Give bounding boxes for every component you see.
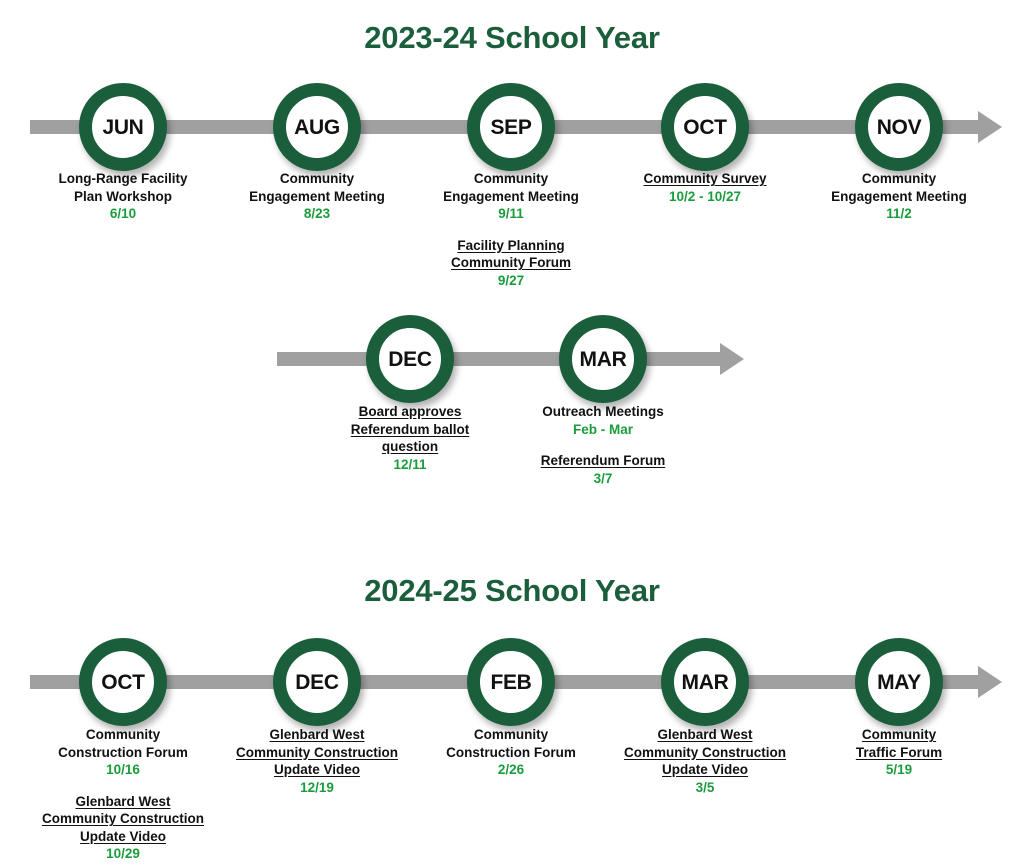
timeline-node-sep[interactable]: SEP [467, 83, 555, 171]
event-link-line[interactable]: Facility Planning [411, 237, 611, 255]
event-link-line[interactable]: Update Video [13, 828, 233, 846]
node-month-label: MAR [580, 349, 627, 370]
event-column-oct-2024: Community Construction Forum 10/16 Glenb… [13, 726, 233, 863]
event-group: Community Construction Forum 10/16 [13, 726, 233, 779]
event-link-line[interactable]: Referendum Forum [503, 452, 703, 470]
node-month-label: AUG [294, 117, 340, 138]
event-link-line[interactable]: Glenbard West [13, 793, 233, 811]
timeline-node-oct[interactable]: OCT [661, 83, 749, 171]
event-group-link[interactable]: Glenbard West Community Construction Upd… [207, 726, 427, 796]
event-date: 3/7 [503, 470, 703, 488]
event-date: 2/26 [401, 761, 621, 779]
event-date: 8/23 [217, 205, 417, 223]
event-link-line[interactable]: Update Video [595, 761, 815, 779]
timeline-arrow-icon [978, 111, 1002, 143]
event-column-mar-2025: Glenbard West Community Construction Upd… [595, 726, 815, 796]
event-date: 12/19 [207, 779, 427, 797]
timeline-node-aug[interactable]: AUG [273, 83, 361, 171]
timeline-node-dec-2024[interactable]: DEC [273, 638, 361, 726]
event-link-line[interactable]: Community Construction [13, 810, 233, 828]
timeline-arrow-icon [978, 666, 1002, 698]
event-column-feb-2025: Community Construction Forum 2/26 [401, 726, 621, 779]
event-date: 12/11 [310, 456, 510, 474]
node-month-label: FEB [490, 672, 531, 693]
event-name-line: Engagement Meeting [217, 188, 417, 206]
event-column-nov: Community Engagement Meeting 11/2 [799, 170, 999, 223]
event-date: 10/29 [13, 845, 233, 863]
section-title-2024-25: 2024-25 School Year [0, 575, 1024, 606]
event-link-line[interactable]: Glenbard West [595, 726, 815, 744]
event-name-line: Engagement Meeting [799, 188, 999, 206]
event-column-aug: Community Engagement Meeting 8/23 [217, 170, 417, 223]
node-month-label: MAR [682, 672, 729, 693]
timeline-node-dec[interactable]: DEC [366, 315, 454, 403]
event-date: Feb - Mar [503, 421, 703, 439]
node-month-label: MAY [877, 672, 921, 693]
event-date: 3/5 [595, 779, 815, 797]
node-month-label: DEC [388, 349, 431, 370]
event-link-line[interactable]: Glenbard West [207, 726, 427, 744]
event-name-line: Construction Forum [401, 744, 621, 762]
event-name-line: Long-Range Facility [23, 170, 223, 188]
event-name-line: Community [411, 170, 611, 188]
event-name-line: Community [401, 726, 621, 744]
event-column-oct: Community Survey 10/2 - 10/27 [605, 170, 805, 205]
event-column-sep: Community Engagement Meeting 9/11 Facili… [411, 170, 611, 289]
event-link-line[interactable]: Board approves [310, 403, 510, 421]
event-column-jun: Long-Range Facility Plan Workshop 6/10 [23, 170, 223, 223]
event-date: 10/16 [13, 761, 233, 779]
timeline-node-may-2025[interactable]: MAY [855, 638, 943, 726]
event-group: Outreach Meetings Feb - Mar [503, 403, 703, 438]
event-link-line[interactable]: Referendum ballot [310, 421, 510, 439]
event-name-line: Plan Workshop [23, 188, 223, 206]
timeline-node-jun[interactable]: JUN [79, 83, 167, 171]
event-link-line[interactable]: Community [789, 726, 1009, 744]
event-date: 10/2 - 10/27 [605, 188, 805, 206]
event-group-link[interactable]: Facility Planning Community Forum 9/27 [411, 237, 611, 290]
event-date: 9/27 [411, 272, 611, 290]
event-link-line[interactable]: Community Construction [207, 744, 427, 762]
event-name-line: Construction Forum [13, 744, 233, 762]
event-link-line[interactable]: question [310, 438, 510, 456]
event-group-link[interactable]: Glenbard West Community Construction Upd… [13, 793, 233, 863]
event-link-line[interactable]: Community Forum [411, 254, 611, 272]
event-group-link[interactable]: Community Survey 10/2 - 10/27 [605, 170, 805, 205]
event-group-link[interactable]: Glenbard West Community Construction Upd… [595, 726, 815, 796]
event-group: Community Engagement Meeting 11/2 [799, 170, 999, 223]
event-group: Long-Range Facility Plan Workshop 6/10 [23, 170, 223, 223]
event-group-link[interactable]: Community Traffic Forum 5/19 [789, 726, 1009, 779]
event-date: 6/10 [23, 205, 223, 223]
event-link-line[interactable]: Community Construction [595, 744, 815, 762]
event-date: 9/11 [411, 205, 611, 223]
node-month-label: JUN [102, 117, 143, 138]
timeline-node-mar[interactable]: MAR [559, 315, 647, 403]
event-link-line[interactable]: Traffic Forum [789, 744, 1009, 762]
event-group-link[interactable]: Board approves Referendum ballot questio… [310, 403, 510, 473]
section-title-2023-24: 2023-24 School Year [0, 22, 1024, 53]
event-name-line: Engagement Meeting [411, 188, 611, 206]
event-column-dec-2023: Board approves Referendum ballot questio… [310, 403, 510, 473]
node-month-label: OCT [101, 672, 144, 693]
event-date: 5/19 [789, 761, 1009, 779]
timeline-row-2023-second: DEC MAR [0, 300, 1024, 420]
event-group: Community Construction Forum 2/26 [401, 726, 621, 779]
event-name-line: Outreach Meetings [503, 403, 703, 421]
event-link-line[interactable]: Community Survey [605, 170, 805, 188]
event-column-mar-2023: Outreach Meetings Feb - Mar Referendum F… [503, 403, 703, 487]
timeline-node-mar-2025[interactable]: MAR [661, 638, 749, 726]
event-name-line: Community [799, 170, 999, 188]
node-month-label: OCT [683, 117, 726, 138]
node-month-label: SEP [490, 117, 531, 138]
timeline-axis-line [277, 352, 727, 366]
event-group: Community Engagement Meeting 9/11 [411, 170, 611, 223]
event-link-line[interactable]: Update Video [207, 761, 427, 779]
node-month-label: DEC [295, 672, 338, 693]
event-name-line: Community [13, 726, 233, 744]
event-group-link[interactable]: Referendum Forum 3/7 [503, 452, 703, 487]
event-group: Community Engagement Meeting 8/23 [217, 170, 417, 223]
timeline-arrow-icon [720, 343, 744, 375]
event-date: 11/2 [799, 205, 999, 223]
timeline-node-oct-2024[interactable]: OCT [79, 638, 167, 726]
event-column-dec-2024: Glenbard West Community Construction Upd… [207, 726, 427, 796]
timeline-node-nov[interactable]: NOV [855, 83, 943, 171]
event-column-may-2025: Community Traffic Forum 5/19 [789, 726, 1009, 779]
event-name-line: Community [217, 170, 417, 188]
node-month-label: NOV [877, 117, 922, 138]
timeline-row-2024-main: OCT DEC FEB MAR MAY [0, 623, 1024, 743]
timeline-node-feb-2025[interactable]: FEB [467, 638, 555, 726]
